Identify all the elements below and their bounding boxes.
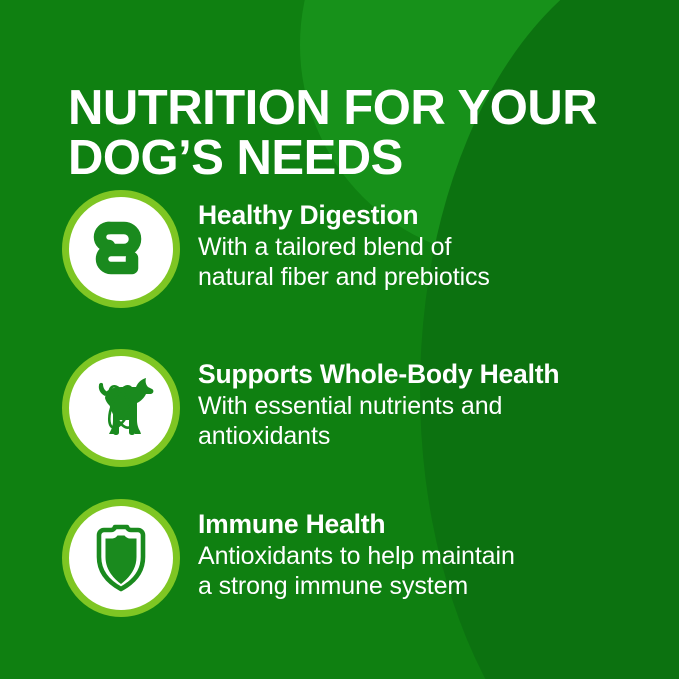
page-title: NUTRITION FOR YOUR DOG’S NEEDS bbox=[68, 83, 628, 184]
benefit-title: Supports Whole-Body Health bbox=[198, 359, 679, 390]
benefit-description: With essential nutrients and antioxidant… bbox=[198, 391, 679, 453]
benefit-item-whole-body-health: Supports Whole-Body Health With essentia… bbox=[0, 349, 679, 467]
panel-content: NUTRITION FOR YOUR DOG’S NEEDS Healthy D… bbox=[0, 0, 679, 679]
dog-orbit-whole-body-icon bbox=[80, 370, 162, 446]
benefit-item-healthy-digestion: Healthy Digestion With a tailored blend … bbox=[0, 190, 679, 308]
benefit-description: Antioxidants to help maintain a strong i… bbox=[198, 541, 679, 603]
shield-immune-icon bbox=[86, 519, 156, 597]
intestine-digestion-icon bbox=[84, 212, 158, 286]
benefit-title: Healthy Digestion bbox=[198, 200, 679, 231]
benefit-title: Immune Health bbox=[198, 509, 679, 540]
benefit-text-digestion: Healthy Digestion With a tailored blend … bbox=[198, 190, 679, 293]
icon-badge-immune bbox=[62, 499, 180, 617]
icon-badge-whole-body bbox=[62, 349, 180, 467]
benefit-text-immune: Immune Health Antioxidants to help maint… bbox=[198, 499, 679, 602]
icon-badge-digestion bbox=[62, 190, 180, 308]
benefit-item-immune-health: Immune Health Antioxidants to help maint… bbox=[0, 499, 679, 617]
benefit-description: With a tailored blend of natural fiber a… bbox=[198, 232, 679, 294]
benefit-text-whole-body: Supports Whole-Body Health With essentia… bbox=[198, 349, 679, 452]
nutrition-benefits-panel: NUTRITION FOR YOUR DOG’S NEEDS Healthy D… bbox=[0, 0, 679, 679]
